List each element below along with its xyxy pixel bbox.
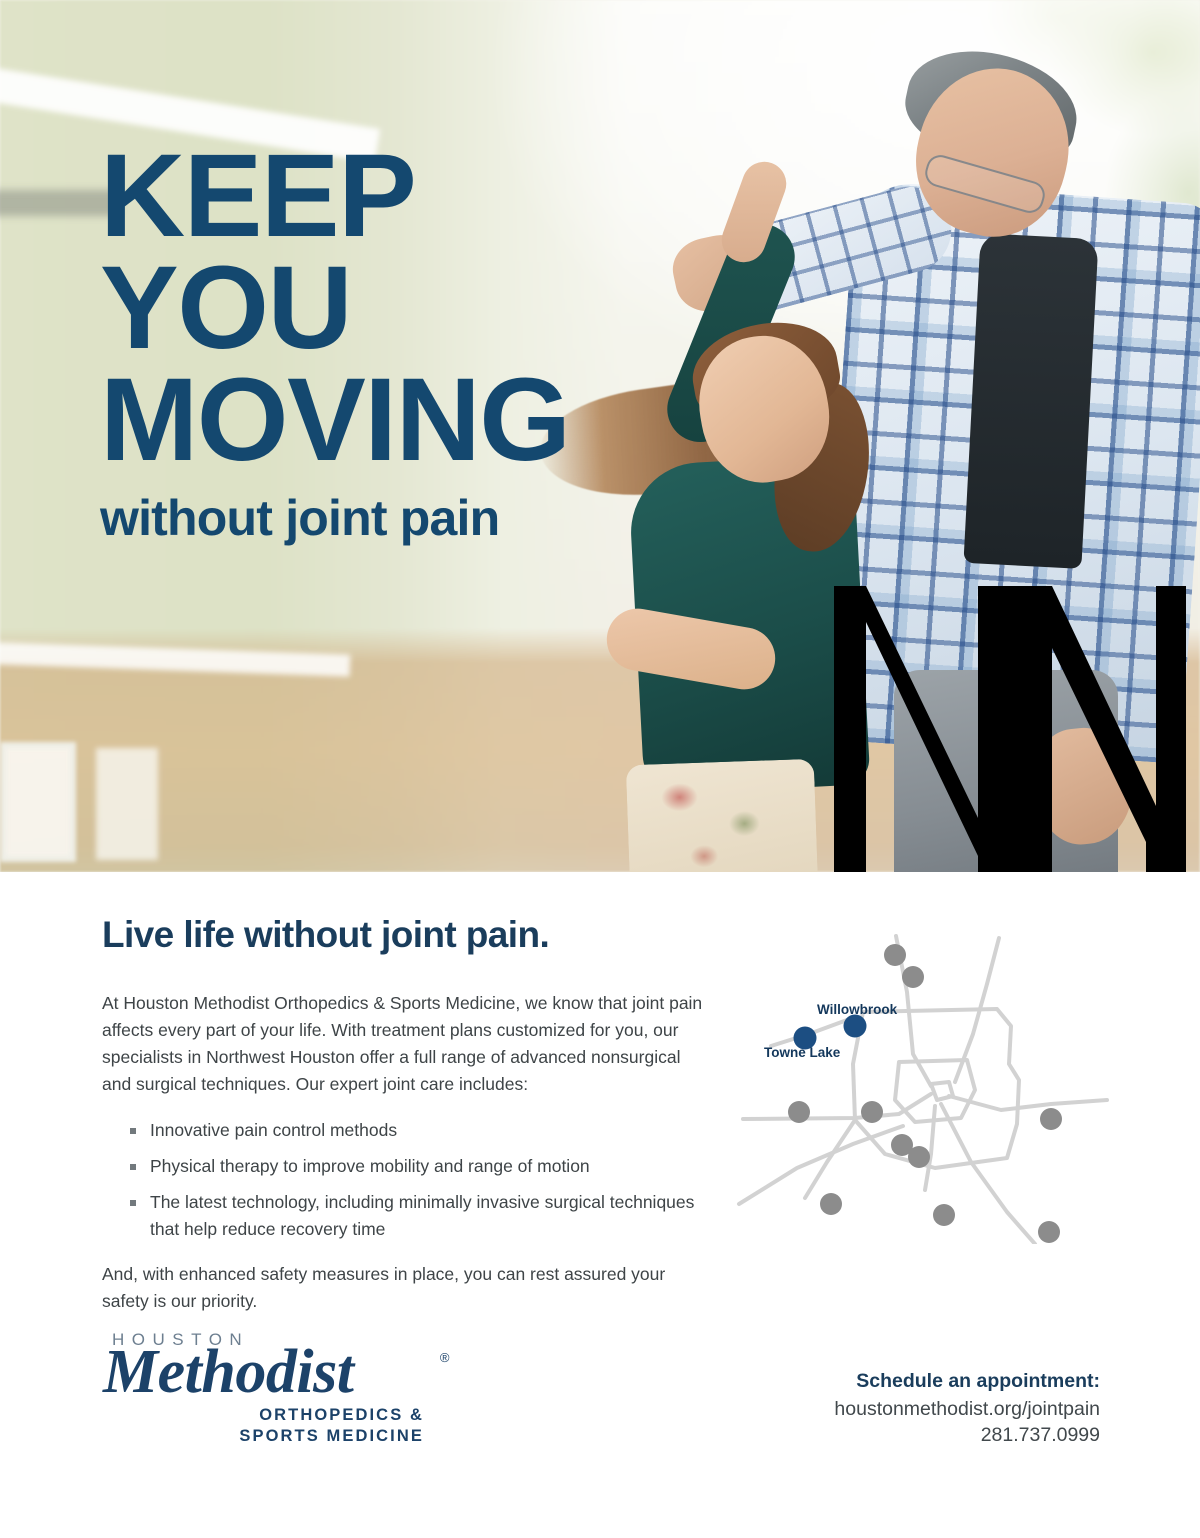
map-label-willowbrook: Willowbrook (817, 1002, 897, 1017)
contact-heading: Schedule an appointment: (834, 1370, 1100, 1393)
houston-methodist-logo: HOUSTON Methodist ® ORTHOPEDICS & SPORTS… (103, 1330, 433, 1447)
contact-phone[interactable]: 281.737.0999 (834, 1424, 1100, 1447)
advertisement-page: KEEP YOU MOVING without joint pain Live … (0, 0, 1200, 1538)
headline-line-2: YOU (100, 252, 570, 364)
map-label-towne-lake: Towne Lake (764, 1045, 840, 1060)
hero-subheadline: without joint pain (100, 492, 570, 545)
grandfather-figure (880, 40, 1200, 872)
registered-trademark-icon: ® (440, 1352, 449, 1364)
body-copy-column: Live life without joint pain. At Houston… (102, 914, 712, 1333)
contact-block: Schedule an appointment: houstonmethodis… (834, 1370, 1100, 1447)
girl-floral-pants (626, 759, 818, 872)
house-window-lower-right (96, 748, 158, 860)
logo-subline-2: SPORTS MEDICINE (103, 1426, 424, 1447)
joint-care-list: Innovative pain control methods Physical… (102, 1117, 712, 1244)
body-paragraph-1: At Houston Methodist Orthopedics & Sport… (102, 990, 712, 1099)
headline-line-1: KEEP (100, 140, 570, 252)
list-item: The latest technology, including minimal… (130, 1189, 712, 1243)
logo-subline-1: ORTHOPEDICS & (103, 1405, 424, 1426)
hero-headline: KEEP YOU MOVING without joint pain (100, 140, 570, 545)
body-heading: Live life without joint pain. (102, 914, 712, 956)
logo-service-line: ORTHOPEDICS & SPORTS MEDICINE (103, 1405, 433, 1447)
list-item: Physical therapy to improve mobility and… (130, 1153, 712, 1180)
hero-section: KEEP YOU MOVING without joint pain (0, 0, 1200, 872)
house-window-lower-left (0, 742, 76, 862)
logo-methodist-text: Methodist (103, 1338, 353, 1406)
map-marker-group (788, 944, 1062, 1243)
headline-line-3: MOVING (100, 364, 570, 476)
lower-content-section: Live life without joint pain. At Houston… (0, 872, 1200, 1538)
girl-figure (580, 232, 910, 872)
logo-methodist-wordmark: Methodist ® (103, 1344, 433, 1401)
contact-url[interactable]: houstonmethodist.org/jointpain (834, 1398, 1100, 1421)
body-paragraph-2: And, with enhanced safety measures in pl… (102, 1261, 712, 1315)
list-item: Innovative pain control methods (130, 1117, 712, 1144)
houston-locations-map: Willowbrook Towne Lake (735, 914, 1115, 1244)
map-marker-willowbrook (844, 1015, 867, 1038)
dark-undershirt (963, 233, 1098, 569)
